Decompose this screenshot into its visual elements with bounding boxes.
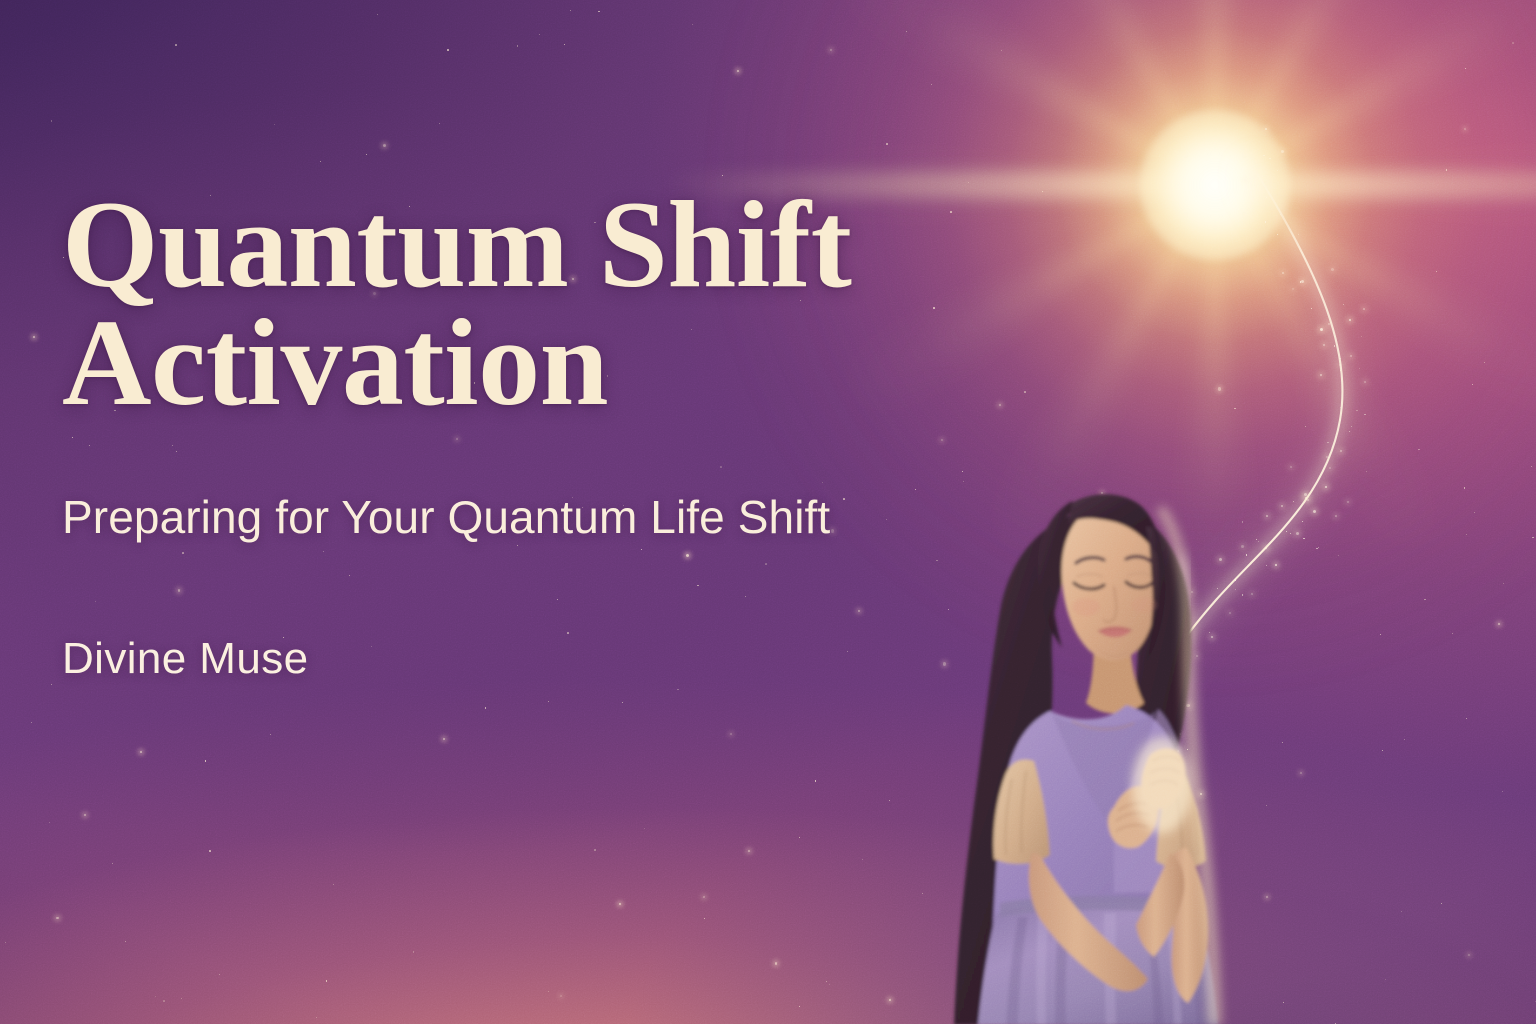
- sparkle-particle: [1280, 214, 1281, 215]
- sparkle-particle: [1244, 179, 1246, 181]
- sparkle-particle: [1320, 374, 1322, 376]
- sparkle-particle: [1350, 355, 1352, 357]
- sparkle-particle: [1349, 431, 1350, 432]
- sparkle-particle: [1335, 515, 1337, 517]
- sparkle-particle: [1347, 501, 1349, 503]
- sparkle-particle: [1356, 410, 1357, 411]
- cover-title: Quantum Shift Activation: [62, 186, 1072, 422]
- sparkle-particle: [1269, 158, 1270, 159]
- sparkle-particle: [1325, 486, 1327, 488]
- sparkle-particle: [1265, 128, 1267, 130]
- sparkle-particle: [1300, 281, 1301, 282]
- sparkle-particle: [1249, 178, 1250, 179]
- sparkle-particle: [1359, 368, 1360, 369]
- sparkle-particle: [1349, 319, 1351, 321]
- sparkle-particle: [1320, 328, 1323, 331]
- sparkle-particle: [1323, 344, 1325, 346]
- sparkle-particle: [1265, 221, 1266, 222]
- sparkle-particle: [1339, 364, 1341, 366]
- sparkle-particle: [1339, 358, 1340, 359]
- cover-text-block: Quantum Shift Activation Preparing for Y…: [62, 186, 1072, 684]
- cover-subtitle: Preparing for Your Quantum Life Shift: [62, 490, 1072, 544]
- book-cover: Quantum Shift Activation Preparing for Y…: [0, 0, 1536, 1024]
- sparkle-particle: [1331, 268, 1334, 271]
- sparkle-particle: [1266, 197, 1267, 198]
- sparkle-particle: [1340, 450, 1342, 452]
- sparkle-particle: [1277, 234, 1278, 235]
- sparkle-particle: [1363, 308, 1365, 310]
- sparkle-particle: [1327, 442, 1328, 443]
- sparkle-particle: [1326, 456, 1328, 458]
- sparkle-particle: [1364, 414, 1365, 415]
- sparkle-particle: [1298, 234, 1299, 235]
- sparkle-particle: [1334, 345, 1335, 346]
- cover-author: Divine Muse: [62, 634, 1072, 684]
- sparkle-particle: [1281, 150, 1284, 153]
- sparkle-particle: [1328, 323, 1330, 325]
- sparkle-particle: [1340, 407, 1341, 408]
- sparkle-particle: [1311, 308, 1312, 309]
- sparkle-particle: [1340, 370, 1341, 371]
- sparkle-particle: [1277, 170, 1278, 171]
- sparkle-particle: [1343, 304, 1344, 305]
- sparkle-particle: [1263, 155, 1264, 156]
- sparkle-particle: [1364, 381, 1366, 383]
- sparkle-particle: [1301, 280, 1304, 283]
- sparkle-particle: [1292, 288, 1294, 290]
- sparkle-particle: [1329, 467, 1331, 469]
- sparkle-particle: [1351, 426, 1352, 427]
- sparkle-particle: [1282, 272, 1284, 274]
